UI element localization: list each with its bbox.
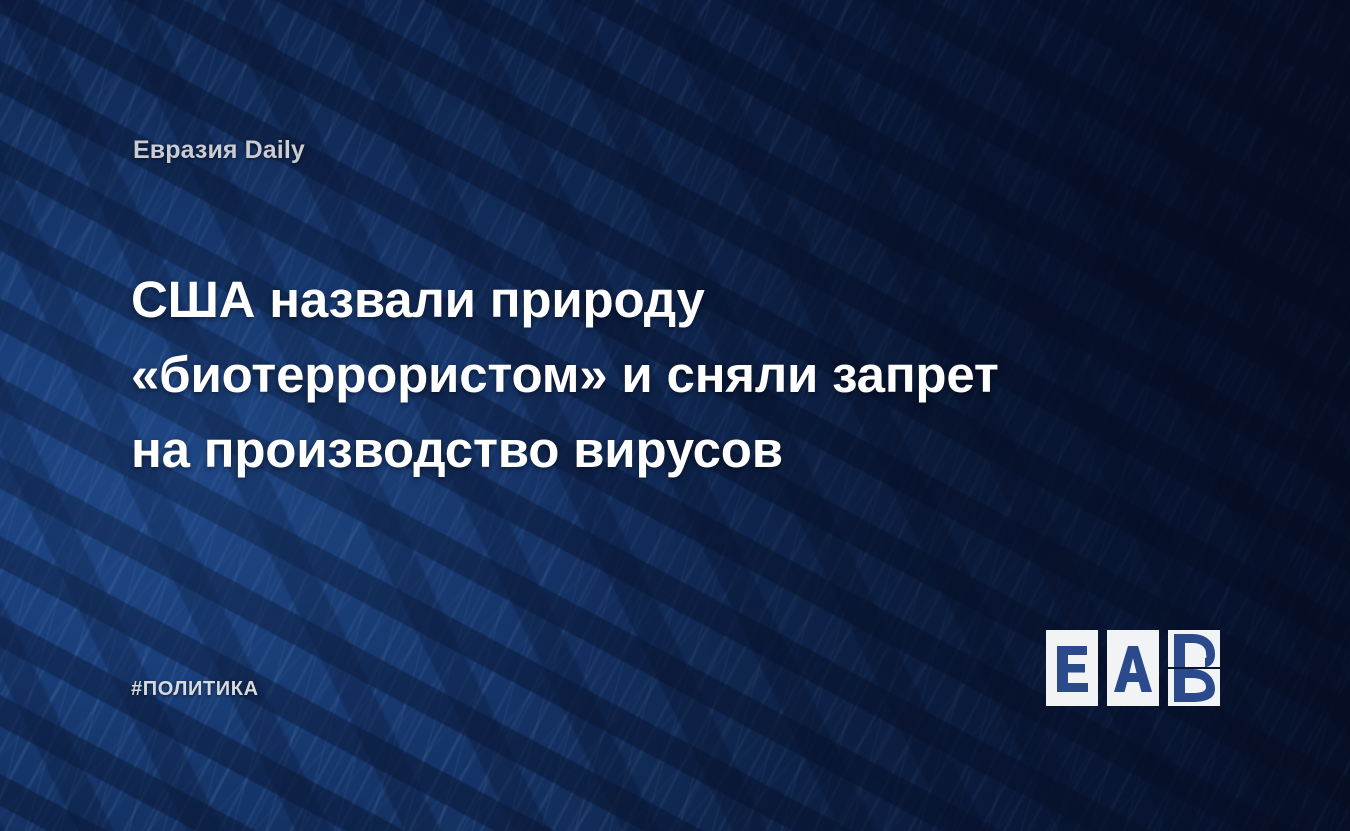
headline-line-3: на производство вирусов — [131, 412, 1131, 487]
logo-tile-d — [1168, 630, 1220, 706]
category-hashtag[interactable]: #ПОЛИТИКА — [131, 678, 259, 701]
publisher-brand-name: Евразия Daily — [133, 136, 305, 165]
logo-tile-e — [1046, 630, 1098, 706]
headline-line-1: США назвали природу — [131, 262, 1131, 337]
headline-line-2: «биотеррористом» и сняли запрет — [131, 337, 1131, 412]
logo-letter-a-icon — [1113, 644, 1153, 692]
logo-letter-e-icon — [1055, 644, 1089, 692]
card-content: Евразия Daily США назвали природу «биоте… — [0, 0, 1350, 831]
news-social-card: Евразия Daily США назвали природу «биоте… — [0, 0, 1350, 831]
headline: США назвали природу «биотеррористом» и с… — [131, 262, 1131, 487]
eadaily-logo[interactable] — [1046, 630, 1221, 706]
logo-tile-a — [1107, 630, 1159, 706]
logo-letter-d-icon — [1168, 630, 1220, 706]
